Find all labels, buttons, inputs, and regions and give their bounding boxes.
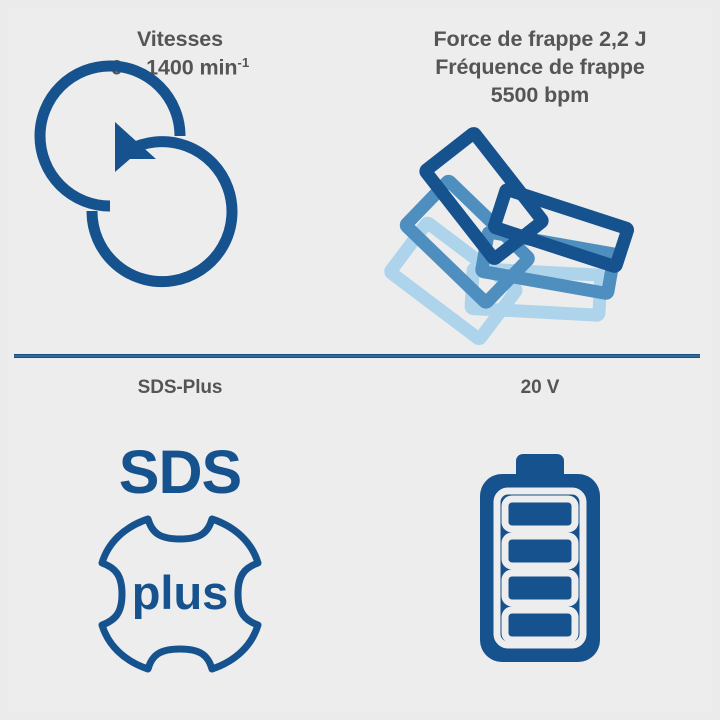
product-specs-infographic: Vitesses 0 – 1400 min-1 Force de frappe … [0, 0, 720, 720]
speed-caption-line1: Vitesses [0, 26, 360, 54]
sds-plus-inner-word: plus [132, 566, 229, 619]
impact-caption-line2: Fréquence de frappe [360, 54, 720, 82]
speed-icon-box [0, 86, 360, 336]
battery-icon-box [360, 414, 720, 704]
chuck-icon-box: SDS plus [0, 414, 360, 704]
impact-icon-box [360, 86, 720, 336]
battery-bar-4 [505, 610, 575, 640]
impact-caption: Force de frappe 2,2 J Fréquence de frapp… [360, 0, 720, 86]
battery-caption: 20 V [360, 358, 720, 414]
impact-caption-line1: Force de frappe 2,2 J [360, 26, 720, 54]
battery-bar-3 [505, 573, 575, 603]
hammer-impact-icon [425, 104, 655, 319]
panel-speed: Vitesses 0 – 1400 min-1 [0, 0, 360, 336]
panel-chuck: SDS-Plus SDS plus [0, 358, 360, 704]
battery-bars [505, 499, 575, 640]
rotation-arrow-icon [80, 106, 280, 316]
speed-caption-line2: 0 – 1400 min-1 [0, 54, 360, 82]
section-divider [14, 354, 700, 358]
speed-unit-exponent: -1 [237, 55, 249, 70]
battery-bar-1 [505, 499, 575, 529]
speed-caption: Vitesses 0 – 1400 min-1 [0, 0, 360, 86]
panel-battery: 20 V [360, 358, 720, 704]
sds-logo-word: SDS [119, 442, 241, 503]
sds-plus-shield-icon: plus [96, 511, 264, 677]
panel-impact: Force de frappe 2,2 J Fréquence de frapp… [360, 0, 720, 336]
chuck-caption: SDS-Plus [0, 358, 360, 414]
battery-bar-2 [505, 536, 575, 566]
battery-icon [475, 452, 605, 667]
